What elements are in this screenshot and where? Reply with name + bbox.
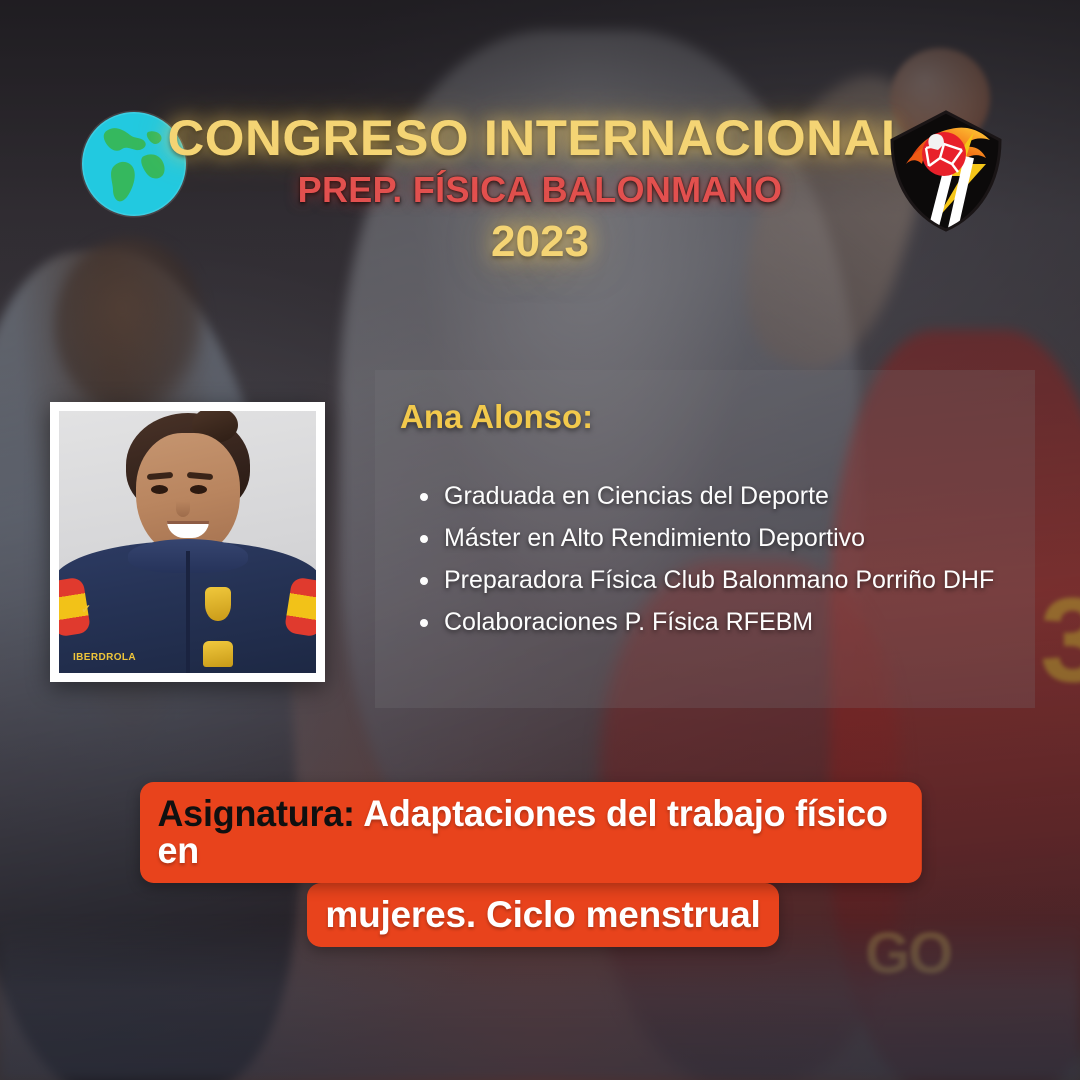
list-item: Máster en Alto Rendimiento Deportivo	[408, 522, 1028, 555]
portrait-correos-logo-icon	[203, 641, 233, 667]
portrait-eye-right	[190, 485, 207, 494]
list-item: Colaboraciones P. Física RFEBM	[408, 606, 1028, 639]
handball-flame-shield-logo	[882, 106, 1010, 234]
list-item: Preparadora Física Club Balonmano Porriñ…	[408, 564, 1028, 597]
speaker-name: Ana Alonso:	[400, 400, 593, 433]
portrait-joma-logo-icon: ✓	[81, 603, 91, 615]
header: CONGRESO INTERNACIONAL PREP. FÍSICA BALO…	[0, 0, 1080, 300]
portrait-federation-crest-icon	[205, 587, 231, 621]
avatar: ✓ IBERDROLA	[59, 411, 316, 673]
portrait-eye-left	[151, 485, 168, 494]
poster-root: 3 GO CONGRESO INTERNACIONAL PREP. FÍSICA…	[0, 0, 1080, 1080]
portrait-tracksuit-jacket: ✓ IBERDROLA	[59, 541, 316, 673]
speaker-photo-frame: ✓ IBERDROLA	[50, 402, 325, 682]
subject-banner: Asignatura: Adaptaciones del trabajo fís…	[140, 782, 946, 947]
banner-label: Asignatura:	[157, 793, 363, 834]
credentials-list: Graduada en Ciencias del Deporte Máster …	[408, 480, 1028, 648]
banner-line-1: Asignatura: Adaptaciones del trabajo fís…	[140, 782, 922, 883]
list-item: Graduada en Ciencias del Deporte	[408, 480, 1028, 513]
portrait-spain-flag-stripe-right	[284, 577, 316, 638]
banner-line-2: mujeres. Ciclo menstrual	[307, 883, 778, 947]
portrait-jacket-zipper	[186, 551, 190, 673]
portrait-iberdrola-logo: IBERDROLA	[73, 653, 136, 663]
portrait-nose	[176, 501, 190, 517]
